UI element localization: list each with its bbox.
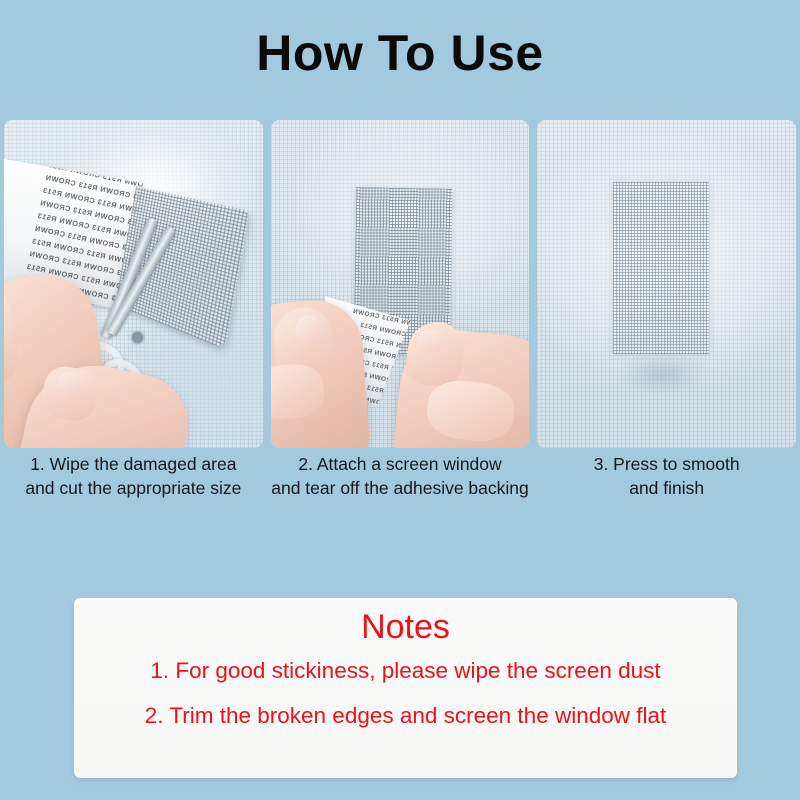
note-item-1: 1. For good stickiness, please wipe the … <box>84 658 727 684</box>
step-image-3 <box>537 120 796 448</box>
page-title: How To Use <box>0 22 800 84</box>
step-caption-1-line-1: 1. Wipe the damaged area <box>2 452 265 476</box>
notes-card: Notes 1. For good stickiness, please wip… <box>74 598 737 778</box>
step-images-strip: CROWN R513 CROWN R513 R513 CROWN R513 CR… <box>4 120 796 448</box>
finger <box>271 362 326 421</box>
note-item-2: 2. Trim the broken edges and screen the … <box>84 703 727 729</box>
hand <box>392 325 529 448</box>
notes-title: Notes <box>74 605 737 649</box>
step-captions: 1. Wipe the damaged area and cut the app… <box>0 452 800 512</box>
step-caption-2: 2. Attach a screen window and tear off t… <box>267 452 534 512</box>
patch-shadow <box>617 352 709 396</box>
step-caption-1: 1. Wipe the damaged area and cut the app… <box>0 452 267 512</box>
step-caption-3-line-2: and finish <box>535 476 798 500</box>
step-caption-3: 3. Press to smooth and finish <box>533 452 800 512</box>
scissor-pivot <box>132 332 143 343</box>
step-caption-1-line-2: and cut the appropriate size <box>2 476 265 500</box>
step-caption-2-line-1: 2. Attach a screen window <box>269 452 532 476</box>
step-image-2: CROWN R513 CROWN R513 CROWN R513 CROWN R… <box>271 120 530 448</box>
step-caption-3-line-1: 3. Press to smooth <box>535 452 798 476</box>
finger <box>425 378 517 445</box>
step-caption-2-line-2: and tear off the adhesive backing <box>269 476 532 500</box>
applied-mesh-patch <box>613 182 709 354</box>
finger <box>4 291 21 383</box>
step-image-1: CROWN R513 CROWN R513 R513 CROWN R513 CR… <box>4 120 263 448</box>
